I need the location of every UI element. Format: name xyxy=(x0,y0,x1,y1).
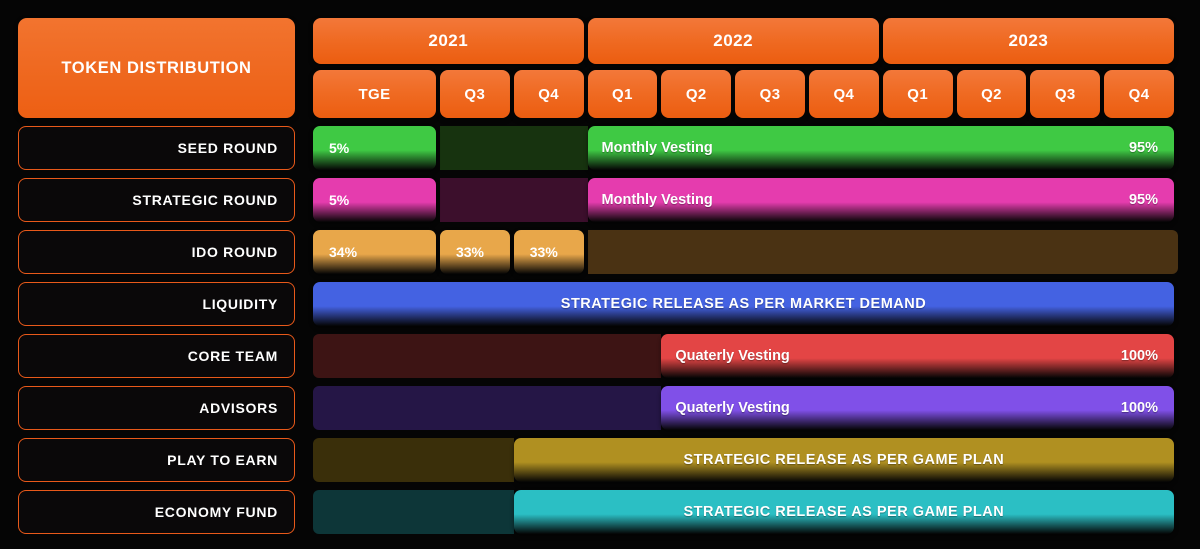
row-label-advisors[interactable]: ADVISORS xyxy=(18,386,295,430)
quarter-label: Q4 xyxy=(833,86,854,103)
segment-economy-fund-1[interactable]: STRATEGIC RELEASE AS PER GAME PLAN xyxy=(514,490,1174,534)
segment-seed-round-0[interactable]: 5% xyxy=(313,126,436,170)
segment-right-label: 95% xyxy=(1129,140,1158,156)
segment-ido-round-2[interactable]: 33% xyxy=(514,230,584,274)
quarter-label: Q2 xyxy=(981,86,1002,103)
row-label-text: ECONOMY FUND xyxy=(155,504,278,520)
segment-play-to-earn-0 xyxy=(313,438,514,482)
year-header-2021: 2021 xyxy=(313,18,584,64)
segment-right-label: 100% xyxy=(1121,400,1158,416)
segment-center-label: STRATEGIC RELEASE AS PER GAME PLAN xyxy=(514,504,1174,520)
segment-left-label: 33% xyxy=(530,244,558,260)
segment-core-team-1[interactable]: Quaterly Vesting100% xyxy=(661,334,1174,378)
year-label: 2023 xyxy=(1008,31,1048,51)
quarter-header-2023-q4: Q4 xyxy=(1104,70,1174,118)
year-label: 2021 xyxy=(428,31,468,51)
segment-right-label: 100% xyxy=(1121,348,1158,364)
timeline-track-core-team: Quaterly Vesting100% xyxy=(313,334,1178,378)
chart-grid: TOKEN DISTRIBUTION 202120222023 TGEQ3Q4Q… xyxy=(18,18,1178,535)
quarter-header-2023-q1: Q1 xyxy=(883,70,953,118)
token-distribution-chart: TOKEN DISTRIBUTION 202120222023 TGEQ3Q4Q… xyxy=(0,0,1200,549)
quarter-label: Q3 xyxy=(1055,86,1076,103)
timeline-track-strategic-round: 5%Monthly Vesting95% xyxy=(313,178,1178,222)
segment-left-label: 33% xyxy=(456,244,484,260)
segment-advisors-1[interactable]: Quaterly Vesting100% xyxy=(661,386,1174,430)
row-label-text: SEED ROUND xyxy=(178,140,278,156)
year-header-2023: 2023 xyxy=(883,18,1174,64)
segment-left-label: Quaterly Vesting xyxy=(675,348,789,364)
segment-strategic-round-1 xyxy=(440,178,588,222)
segment-ido-round-3 xyxy=(588,230,1178,274)
quarter-label: Q2 xyxy=(686,86,707,103)
timeline-track-play-to-earn: STRATEGIC RELEASE AS PER GAME PLAN xyxy=(313,438,1178,482)
quarter-header-2023-q2: Q2 xyxy=(957,70,1027,118)
segment-liquidity-0[interactable]: STRATEGIC RELEASE AS PER MARKET DEMAND xyxy=(313,282,1174,326)
quarter-label: Q1 xyxy=(612,86,633,103)
segment-advisors-0 xyxy=(313,386,661,430)
quarter-header-2022-q1: Q1 xyxy=(588,70,658,118)
row-label-liquidity[interactable]: LIQUIDITY xyxy=(18,282,295,326)
timeline-track-liquidity: STRATEGIC RELEASE AS PER MARKET DEMAND xyxy=(313,282,1178,326)
quarter-label: TGE xyxy=(358,86,390,103)
timeline-track-advisors: Quaterly Vesting100% xyxy=(313,386,1178,430)
quarter-header-2021-q3: Q3 xyxy=(440,70,510,118)
segment-seed-round-1 xyxy=(440,126,588,170)
quarter-header-2021-q4: Q4 xyxy=(514,70,584,118)
quarter-header-2022-q3: Q3 xyxy=(735,70,805,118)
segment-economy-fund-0 xyxy=(313,490,514,534)
row-label-text: PLAY TO EARN xyxy=(167,452,278,468)
quarter-header-2022-q4: Q4 xyxy=(809,70,879,118)
row-label-text: CORE TEAM xyxy=(188,348,278,364)
segment-center-label: STRATEGIC RELEASE AS PER GAME PLAN xyxy=(514,452,1174,468)
row-label-economy-fund[interactable]: ECONOMY FUND xyxy=(18,490,295,534)
row-label-core-team[interactable]: CORE TEAM xyxy=(18,334,295,378)
segment-play-to-earn-1[interactable]: STRATEGIC RELEASE AS PER GAME PLAN xyxy=(514,438,1174,482)
row-label-strategic-round[interactable]: STRATEGIC ROUND xyxy=(18,178,295,222)
segment-left-label: Quaterly Vesting xyxy=(675,400,789,416)
segment-strategic-round-2[interactable]: Monthly Vesting95% xyxy=(588,178,1174,222)
row-label-text: IDO ROUND xyxy=(192,244,278,260)
segment-left-label: 5% xyxy=(329,192,349,208)
quarter-label: Q3 xyxy=(464,86,485,103)
quarter-header-2021-tge: TGE xyxy=(313,70,436,118)
year-header-2022: 2022 xyxy=(588,18,879,64)
quarter-header-2023-q3: Q3 xyxy=(1030,70,1100,118)
row-label-seed-round[interactable]: SEED ROUND xyxy=(18,126,295,170)
timeline-track-economy-fund: STRATEGIC RELEASE AS PER GAME PLAN xyxy=(313,490,1178,534)
row-label-play-to-earn[interactable]: PLAY TO EARN xyxy=(18,438,295,482)
row-label-text: LIQUIDITY xyxy=(202,296,278,312)
segment-left-label: Monthly Vesting xyxy=(602,192,713,208)
row-label-ido-round[interactable]: IDO ROUND xyxy=(18,230,295,274)
segment-ido-round-0[interactable]: 34% xyxy=(313,230,436,274)
segment-left-label: Monthly Vesting xyxy=(602,140,713,156)
timeline-track-ido-round: 34%33%33% xyxy=(313,230,1178,274)
timeline-track-seed-round: 5%Monthly Vesting95% xyxy=(313,126,1178,170)
quarter-label: Q4 xyxy=(538,86,559,103)
quarter-header-2022-q2: Q2 xyxy=(661,70,731,118)
segment-core-team-0 xyxy=(313,334,661,378)
row-label-text: ADVISORS xyxy=(199,400,278,416)
segment-right-label: 95% xyxy=(1129,192,1158,208)
row-label-text: STRATEGIC ROUND xyxy=(132,192,278,208)
segment-left-label: 5% xyxy=(329,140,349,156)
year-label: 2022 xyxy=(713,31,753,51)
quarter-label: Q4 xyxy=(1129,86,1150,103)
quarter-label: Q1 xyxy=(907,86,928,103)
segment-ido-round-1[interactable]: 33% xyxy=(440,230,510,274)
page-title: TOKEN DISTRIBUTION xyxy=(18,18,295,118)
segment-seed-round-2[interactable]: Monthly Vesting95% xyxy=(588,126,1174,170)
segment-left-label: 34% xyxy=(329,244,357,260)
segment-strategic-round-0[interactable]: 5% xyxy=(313,178,436,222)
quarter-label: Q3 xyxy=(760,86,781,103)
segment-center-label: STRATEGIC RELEASE AS PER MARKET DEMAND xyxy=(313,296,1174,312)
